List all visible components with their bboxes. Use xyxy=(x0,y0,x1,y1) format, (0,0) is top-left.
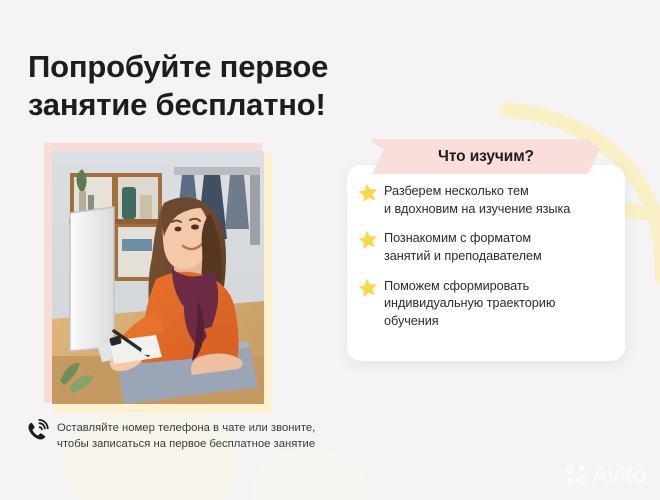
card-ribbon-title: Что изучим? xyxy=(372,139,600,174)
promo-banner: Попробуйте первое занятие бесплатно! xyxy=(0,0,660,500)
list-item-label: Познакомим с форматом занятий и преподав… xyxy=(384,229,542,265)
page-title: Попробуйте первое занятие бесплатно! xyxy=(28,48,428,125)
student-photo xyxy=(52,151,264,404)
photo-block xyxy=(44,143,272,413)
star-icon xyxy=(357,277,379,299)
cream-blob-decoration-2 xyxy=(250,448,370,500)
benefits-card: Разберем несколько тем и вдохновим на из… xyxy=(347,165,625,361)
phone-call-icon xyxy=(24,419,50,445)
star-icon xyxy=(357,229,379,251)
list-item: Познакомим с форматом занятий и преподав… xyxy=(357,229,611,265)
card-ribbon: Что изучим? xyxy=(372,139,600,174)
avito-logo-icon xyxy=(563,462,589,488)
cta-block: Оставляйте номер телефона в чате или зво… xyxy=(24,418,315,452)
list-item-label: Поможем сформировать индивидуальную трае… xyxy=(384,277,555,331)
list-item: Разберем несколько тем и вдохновим на из… xyxy=(357,182,611,218)
avito-wordmark: Avito xyxy=(592,464,646,487)
list-item: Поможем сформировать индивидуальную трае… xyxy=(357,277,611,331)
cta-label: Оставляйте номер телефона в чате или зво… xyxy=(57,418,315,452)
benefits-list: Разберем несколько тем и вдохновим на из… xyxy=(347,165,625,331)
star-icon xyxy=(357,182,379,204)
avito-watermark: Avito xyxy=(563,462,646,488)
list-item-label: Разберем несколько тем и вдохновим на из… xyxy=(384,182,570,218)
